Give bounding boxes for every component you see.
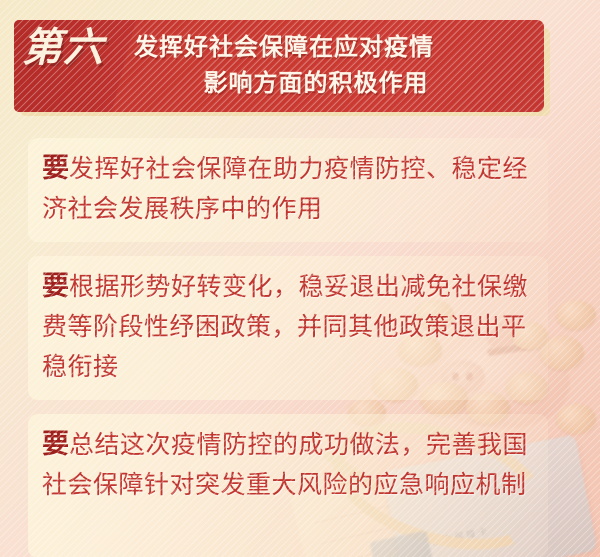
paragraph-body: 根据形势好转变化，稳妥退出减免社保缴费等阶段性纾困政策，并同其他政策退出平稳衔接 bbox=[42, 274, 528, 381]
banner-title-line-2: 影响方面的积极作用 bbox=[132, 66, 536, 102]
banner-title: 发挥好社会保障在应对疫情 影响方面的积极作用 bbox=[132, 30, 536, 102]
paragraph-text: 要发挥好社会保障在助力疫情防控、稳定经济社会发展秩序中的作用 bbox=[28, 138, 548, 242]
poster-canvas: 社会保障卡 第六 发挥好社会保障在应对疫情 影响方面的积极作用 要发挥好社会保障… bbox=[0, 0, 600, 557]
banner-title-line-1: 发挥好社会保障在应对疫情 bbox=[132, 30, 536, 66]
paragraph-lead-marker: 要 bbox=[42, 153, 69, 183]
paragraph-body: 总结这次疫情防控的成功做法，完善我国社会保障针对突发重大风险的应急响应机制 bbox=[42, 432, 528, 499]
paragraph-text: 要根据形势好转变化，稳妥退出减免社保缴费等阶段性纾困政策，并同其他政策退出平稳衔… bbox=[28, 256, 548, 400]
paragraph-body: 发挥好社会保障在助力疫情防控、稳定经济社会发展秩序中的作用 bbox=[42, 156, 528, 223]
paragraph-lead-marker: 要 bbox=[42, 271, 69, 301]
header-banner: 第六 发挥好社会保障在应对疫情 影响方面的积极作用 bbox=[14, 20, 544, 112]
paragraph-lead-marker: 要 bbox=[42, 429, 69, 459]
ordinal-label: 第六 bbox=[22, 28, 134, 68]
paragraph-panel: 要根据形势好转变化，稳妥退出减免社保缴费等阶段性纾困政策，并同其他政策退出平稳衔… bbox=[28, 256, 548, 400]
paragraph-text: 要总结这次疫情防控的成功做法，完善我国社会保障针对突发重大风险的应急响应机制 bbox=[28, 414, 548, 518]
paragraph-panel: 要发挥好社会保障在助力疫情防控、稳定经济社会发展秩序中的作用 bbox=[28, 138, 548, 242]
paragraph-panel: 要总结这次疫情防控的成功做法，完善我国社会保障针对突发重大风险的应急响应机制 bbox=[28, 414, 548, 557]
content-area: 要发挥好社会保障在助力疫情防控、稳定经济社会发展秩序中的作用 要根据形势好转变化… bbox=[0, 126, 600, 557]
